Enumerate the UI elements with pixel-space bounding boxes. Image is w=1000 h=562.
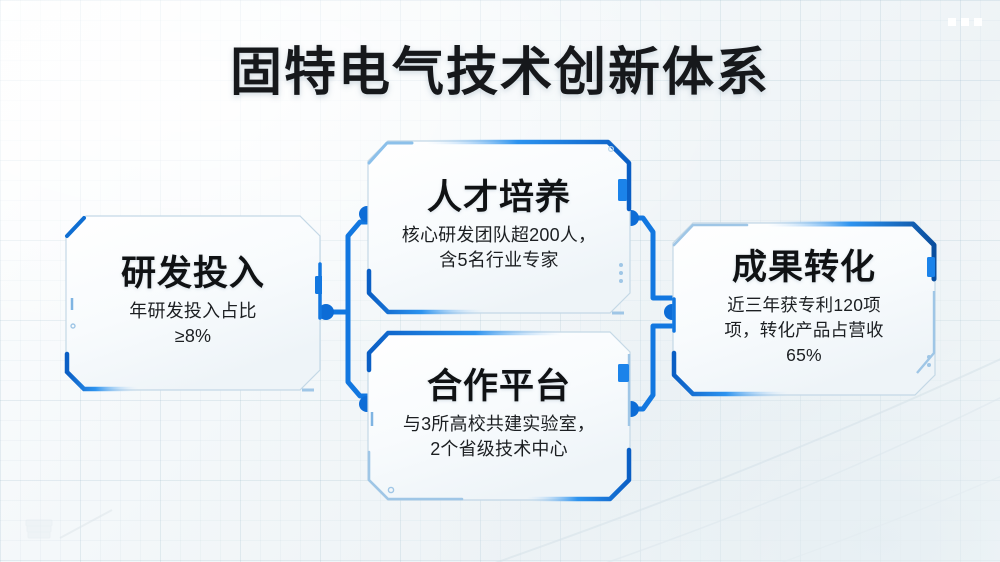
card-rd-investment[interactable]: 研发投入 年研发投入占比 ≥8% <box>64 214 322 392</box>
paper-stack-watermark-icon <box>24 508 120 548</box>
card-body-line: 核心研发团队超200人， <box>402 225 596 245</box>
card-title: 研发投入 <box>121 256 265 293</box>
card-title: 成果转化 <box>732 250 876 287</box>
card-body: 与3所高校共建实验室， 2个省级技术中心 <box>403 412 595 463</box>
card-body-line: 与3所高校共建实验室， <box>403 414 595 434</box>
card-body-line: 近三年获专利120项 <box>727 295 881 315</box>
card-body-line: 项，转化产品占营收 <box>724 320 883 340</box>
card-body: 核心研发团队超200人， 含5名行业专家 <box>402 223 596 274</box>
card-content: 合作平台 与3所高校共建实验室， 2个省级技术中心 <box>366 330 632 502</box>
card-platform[interactable]: 合作平台 与3所高校共建实验室， 2个省级技术中心 <box>366 330 632 502</box>
card-content: 成果转化 近三年获专利120项 项，转化产品占营收 65% <box>671 221 937 397</box>
corner-dots-decoration <box>948 18 982 26</box>
card-body-line: 2个省级技术中心 <box>430 439 568 459</box>
card-content: 人才培养 核心研发团队超200人， 含5名行业专家 <box>366 139 632 315</box>
card-body: 近三年获专利120项 项，转化产品占营收 65% <box>724 293 883 368</box>
card-title: 合作平台 <box>427 369 571 406</box>
corner-dot <box>961 18 969 26</box>
page-title: 固特电气技术创新体系 <box>0 30 1000 105</box>
card-result-transformation[interactable]: 成果转化 近三年获专利120项 项，转化产品占营收 65% <box>671 221 937 397</box>
corner-dot <box>948 18 956 26</box>
card-body-line: ≥8% <box>175 326 212 346</box>
card-talent[interactable]: 人才培养 核心研发团队超200人， 含5名行业专家 <box>366 139 632 315</box>
card-body-line: 年研发投入占比 <box>129 301 256 321</box>
card-title: 人才培养 <box>427 180 571 217</box>
slide-canvas: 固特电气技术创新体系 <box>0 0 1000 562</box>
card-body-line: 65% <box>786 345 822 365</box>
card-body: 年研发投入占比 ≥8% <box>129 299 256 350</box>
corner-dot <box>974 18 982 26</box>
card-content: 研发投入 年研发投入占比 ≥8% <box>64 214 322 392</box>
card-body-line: 含5名行业专家 <box>439 250 558 270</box>
